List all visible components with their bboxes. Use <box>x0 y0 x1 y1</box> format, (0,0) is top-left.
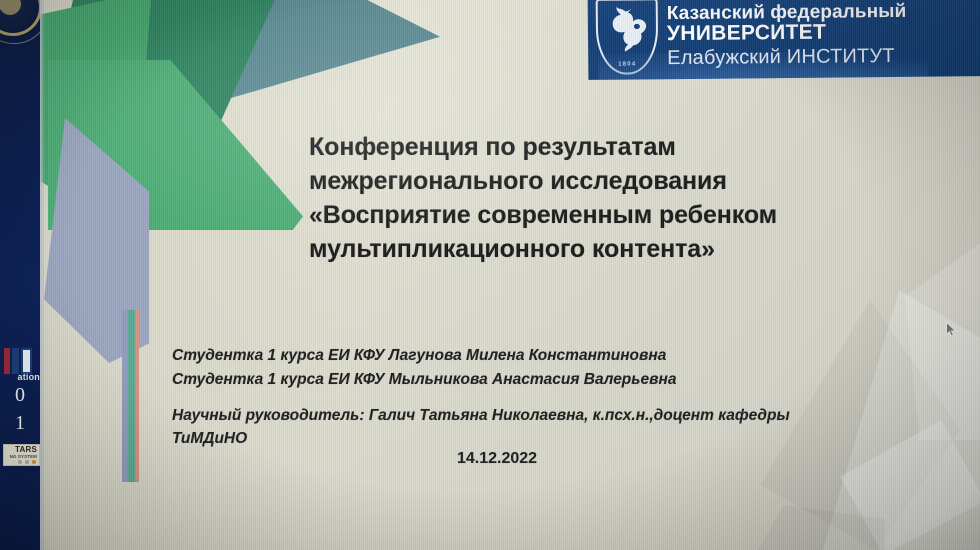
authors-block: Студентка 1 курса ЕИ КФУ Лагунова Милена… <box>172 344 792 392</box>
author-line-1: Студентка 1 курса ЕИ КФУ Лагунова Милена… <box>172 344 792 368</box>
slide-date: 14.12.2022 <box>172 450 822 468</box>
title-line-2: межрегионального исследования <box>309 164 869 198</box>
logo-bar-box <box>21 348 32 374</box>
stars-badge-title: TARS <box>4 445 39 454</box>
kfu-text-block: Казанский федеральный УНИВЕРСИТЕТ Елабуж… <box>667 2 907 68</box>
kfu-crest-icon: 1804 <box>596 0 659 75</box>
kfu-line-1: Казанский федеральный <box>667 2 907 24</box>
zilant-dragon-icon <box>596 0 659 75</box>
supervisor-line-2: ТиМДиНО <box>172 427 872 450</box>
stars-rating-badge: TARS NG SYSTEM <box>3 444 40 466</box>
supervisor-block: Научный руководитель: Галич Татьяна Нико… <box>172 404 872 451</box>
star-dot <box>25 460 29 464</box>
partner-logo-word: ation <box>2 372 40 382</box>
title-line-3: «Восприятие современным ребенком <box>309 198 869 232</box>
banner-number-bottom: 1 <box>0 412 40 435</box>
banner-number-top: 0 <box>0 384 40 407</box>
room-side-banner: ation 0 1 TARS NG SYSTEM <box>0 0 40 550</box>
logo-bar-blue <box>12 348 19 374</box>
slide-title: Конференция по результатам межрегиональн… <box>309 130 869 266</box>
kfu-line-3: Елабужский ИНСТИТУТ <box>667 46 907 69</box>
kfu-line-2: УНИВЕРСИТЕТ <box>667 21 907 45</box>
logo-bar-red <box>4 348 10 374</box>
kfu-logo-banner: 1804 Казанский федеральный УНИВЕРСИТЕТ Е… <box>588 0 980 80</box>
star-dot <box>32 460 36 464</box>
mouse-cursor-icon <box>946 322 957 337</box>
banner-screen-seam <box>40 0 44 550</box>
accent-stripe-teal <box>128 310 135 482</box>
author-line-2: Студентка 1 курса ЕИ КФУ Мыльникова Анас… <box>172 368 792 392</box>
supervisor-line-1: Научный руководитель: Галич Татьяна Нико… <box>172 404 872 427</box>
crest-year-label: 1804 <box>596 61 658 68</box>
accent-stripe-salmon <box>135 310 139 482</box>
partner-logo-icon <box>4 344 40 374</box>
star-dot <box>18 460 22 464</box>
presentation-slide: 1804 Казанский федеральный УНИВЕРСИТЕТ Е… <box>0 0 980 550</box>
projected-slide-photo: 1804 Казанский федеральный УНИВЕРСИТЕТ Е… <box>0 0 980 550</box>
stars-badge-subtitle: NG SYSTEM <box>4 454 39 459</box>
title-line-4: мультипликационного контента» <box>309 232 869 266</box>
title-line-1: Конференция по результатам <box>309 130 869 164</box>
vertical-accent-bar <box>122 310 139 482</box>
stars-badge-dots <box>4 459 39 464</box>
